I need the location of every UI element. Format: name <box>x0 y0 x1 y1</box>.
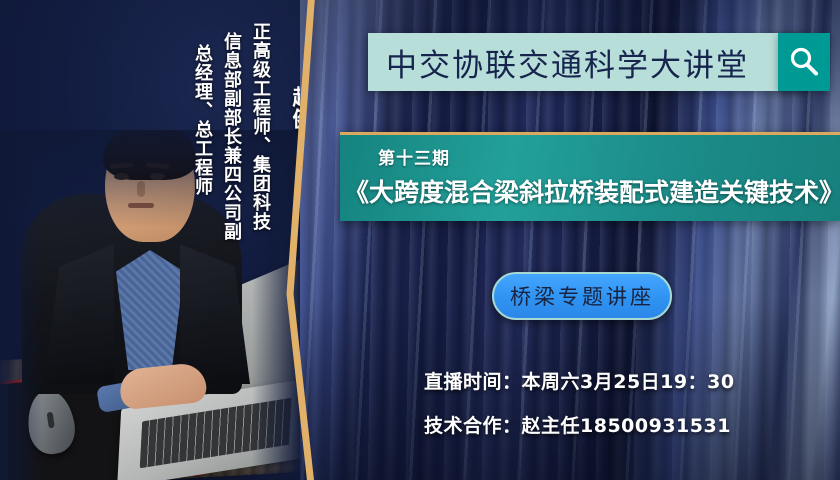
speaker-credits: 赵健 正高级工程师、集团科技 信息部副部长兼四公司副 总经理、总工程师 <box>186 22 300 272</box>
search-button[interactable] <box>778 33 830 91</box>
speaker-title-line-1: 正高级工程师、集团科技 <box>247 22 273 231</box>
speaker-title-line-2: 信息部副部长兼四公司副 <box>218 32 244 241</box>
session-issue-label: 第十三期 <box>378 144 450 169</box>
speaker-title-line-3: 总经理、总工程师 <box>189 44 215 196</box>
search-icon <box>787 45 821 79</box>
topic-category-label: 桥梁专题讲座 <box>510 281 654 311</box>
webinar-poster: 赵健 正高级工程师、集团科技 信息部副部长兼四公司副 总经理、总工程师 中交协联… <box>0 0 840 480</box>
technical-contact-line: 技术合作：赵主任18500931531 <box>424 411 731 438</box>
session-band: 第十三期 《大跨度混合梁斜拉桥装配式建造关键技术》 <box>340 132 840 221</box>
speaker-panel: 赵健 正高级工程师、集团科技 信息部副部长兼四公司副 总经理、总工程师 <box>0 0 300 480</box>
broadcast-time-line: 直播时间：本周六3月25日19：30 <box>424 367 735 394</box>
brand-title-banner: 中交协联交通科学大讲堂 <box>368 33 806 91</box>
topic-category-badge[interactable]: 桥梁专题讲座 <box>492 272 672 320</box>
speaker-name: 赵健 <box>287 86 300 130</box>
brand-title-text: 中交协联交通科学大讲堂 <box>368 40 749 85</box>
session-topic-title: 《大跨度混合梁斜拉桥装配式建造关键技术》 <box>344 173 836 209</box>
